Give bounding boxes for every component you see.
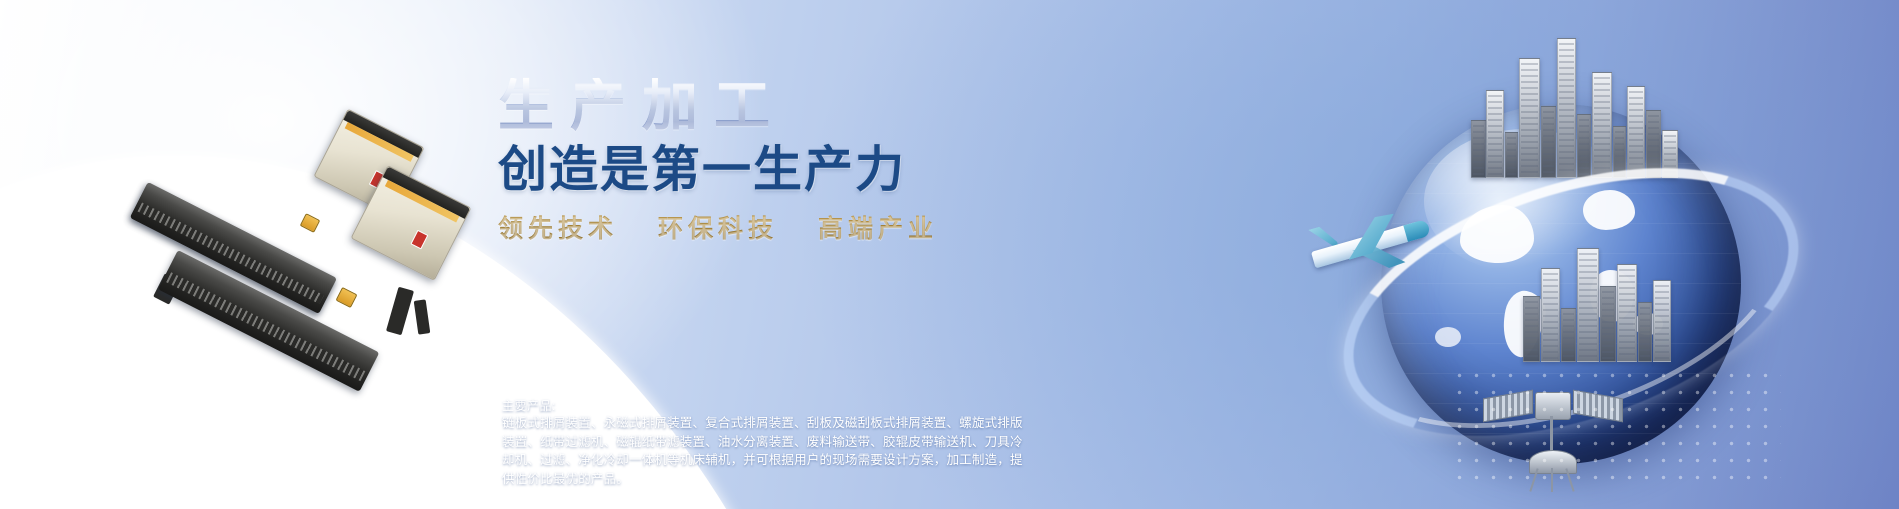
city-skyline-inner <box>1519 212 1689 362</box>
product-list-label: 主要产品: <box>502 398 954 414</box>
satellite-body <box>1535 392 1571 420</box>
product-line: 装置、纸带过滤机、磁辊纸带滤装置、油水分离装置、废料输送带、胶辊皮带输送机、刀具… <box>502 433 954 452</box>
tagline-item: 高端产业 <box>818 209 938 245</box>
product-line: 却机、过滤、净化冷却一体机等机床辅机，并可根据用户的现场需要设计方案，加工制造，… <box>502 451 954 470</box>
tagline-list: 领先技术 环保科技 高端产业 <box>498 209 968 245</box>
product-line: 链板式排屑装置、永磁式排屑装置、复合式排屑装置、刮板及磁刮板式排屑装置、螺旋式排… <box>502 414 954 433</box>
tagline-item: 领先技术 <box>498 209 618 245</box>
satellite-panel-right <box>1573 390 1623 423</box>
globe-graphic <box>1341 34 1781 494</box>
satellite-leg <box>1551 468 1553 492</box>
headline-block: 生产加工 创造是第一生产力 领先技术 环保科技 高端产业 <box>498 78 968 245</box>
product-description-block: 主要产品: 链板式排屑装置、永磁式排屑装置、复合式排屑装置、刮板及磁刮板式排屑装… <box>502 398 954 488</box>
product-line: 供性价比最优的产品。 <box>502 470 954 489</box>
airplane-nose <box>1403 219 1431 242</box>
chip-conveyor-machines-photo <box>150 120 490 330</box>
promo-banner: 生产加工 创造是第一生产力 领先技术 环保科技 高端产业 主要产品: 链板式排屑… <box>0 0 1899 509</box>
satellite-panel-left <box>1483 390 1533 423</box>
subtitle: 创造是第一生产力 <box>498 146 968 195</box>
satellite-graphic <box>1477 350 1627 500</box>
city-skyline-graphic <box>1469 28 1679 178</box>
page-title: 生产加工 <box>498 78 968 134</box>
tagline-item: 环保科技 <box>658 209 778 245</box>
product-list-body: 链板式排屑装置、永磁式排屑装置、复合式排屑装置、刮板及磁刮板式排屑装置、螺旋式排… <box>502 414 954 488</box>
